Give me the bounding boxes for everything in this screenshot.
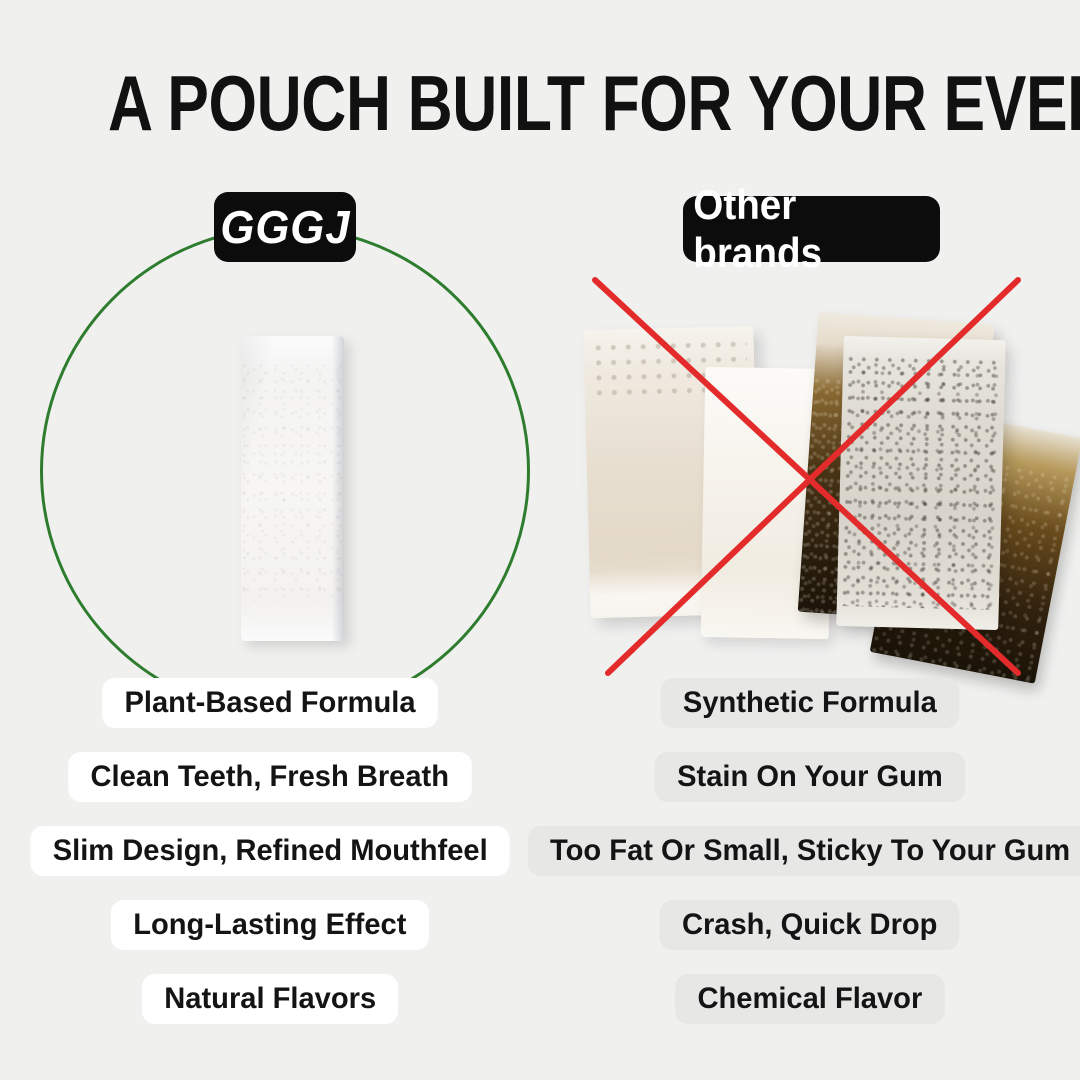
slim-pouch-icon xyxy=(241,336,344,641)
feature-label: Slim Design, Refined Mouthfeel xyxy=(53,836,488,866)
list-item: Clean Teeth, Fresh Breath xyxy=(68,752,471,802)
other-brands-product-photo xyxy=(540,300,1080,700)
feature-label: Natural Flavors xyxy=(164,984,376,1014)
brand-column: GGGJ Plant-Based Formula Clean Teeth, Fr… xyxy=(0,0,540,1080)
list-item: Chemical Flavor xyxy=(675,974,944,1024)
feature-label: Crash, Quick Drop xyxy=(682,910,938,940)
other-brands-feature-list: Synthetic Formula Stain On Your Gum Too … xyxy=(540,678,1080,1024)
list-item: Slim Design, Refined Mouthfeel xyxy=(30,826,510,876)
list-item: Crash, Quick Drop xyxy=(660,900,960,950)
other-brands-badge: Other brands xyxy=(683,196,940,262)
list-item: Natural Flavors xyxy=(142,974,398,1024)
other-brands-column: Other brands Synthetic Formula Stain On … xyxy=(540,0,1080,1080)
speckled-pouch-icon xyxy=(836,336,1006,630)
list-item: Long-Lasting Effect xyxy=(111,900,429,950)
brand-badge: GGGJ xyxy=(214,192,356,262)
feature-label: Chemical Flavor xyxy=(698,984,923,1014)
feature-label: Synthetic Formula xyxy=(683,688,937,718)
comparison-poster: A POUCH BUILT FOR YOUR EVERYDAY GGGJ Pla… xyxy=(0,0,1080,1080)
brand-product-photo xyxy=(0,0,540,700)
feature-label: Clean Teeth, Fresh Breath xyxy=(91,762,449,792)
feature-label: Long-Lasting Effect xyxy=(133,910,406,940)
list-item: Stain On Your Gum xyxy=(655,752,965,802)
brand-badge-label: GGGJ xyxy=(220,200,350,254)
list-item: Synthetic Formula xyxy=(661,678,959,728)
feature-label: Too Fat Or Small, Sticky To Your Gum xyxy=(550,836,1070,866)
list-item: Too Fat Or Small, Sticky To Your Gum xyxy=(528,826,1080,876)
other-brands-badge-label: Other brands xyxy=(693,181,929,277)
brand-feature-list: Plant-Based Formula Clean Teeth, Fresh B… xyxy=(0,678,540,1024)
feature-label: Stain On Your Gum xyxy=(677,762,943,792)
list-item: Plant-Based Formula xyxy=(102,678,438,728)
feature-label: Plant-Based Formula xyxy=(124,688,415,718)
